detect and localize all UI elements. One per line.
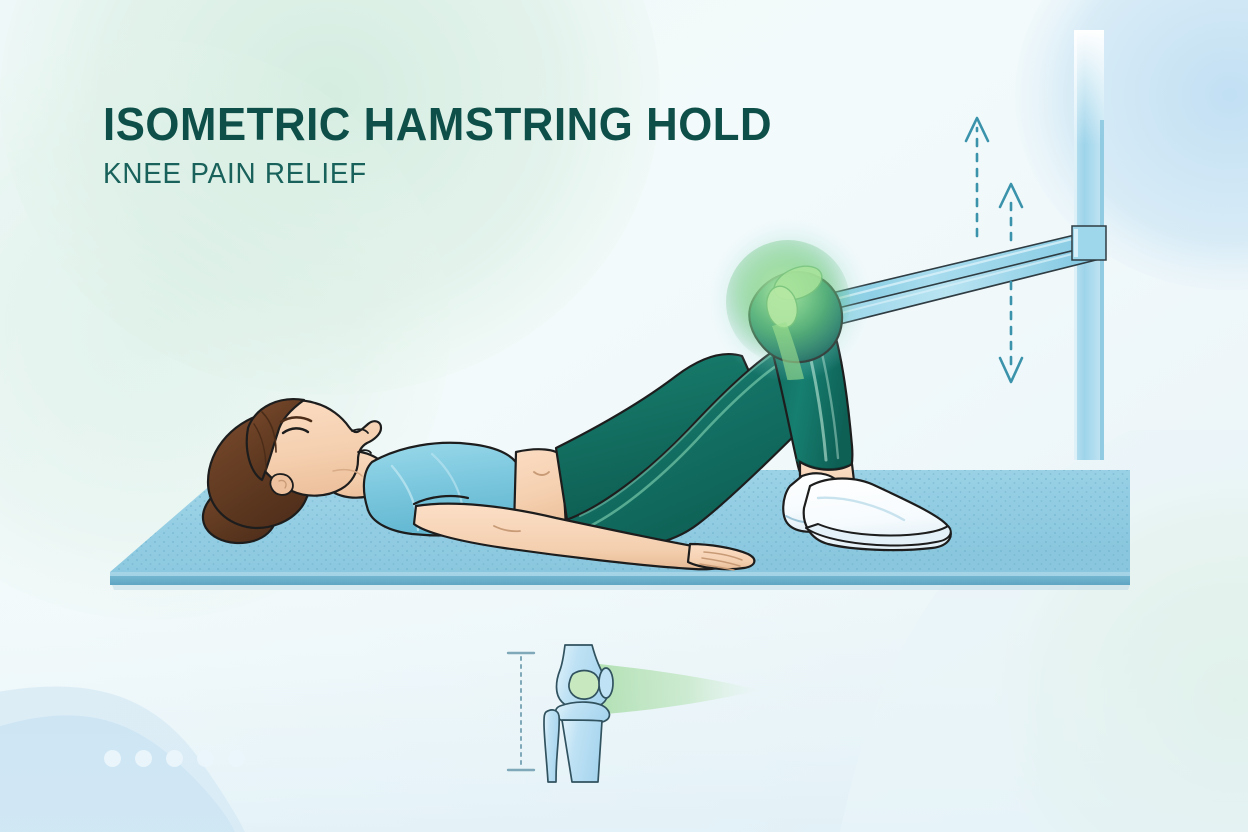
decorative-dot <box>166 750 183 767</box>
decorative-dot-row <box>104 750 245 767</box>
title-block: ISOMETRIC HAMSTRING HOLD KNEE PAIN RELIE… <box>103 101 807 189</box>
decorative-dot <box>135 750 152 767</box>
page-title: ISOMETRIC HAMSTRING HOLD <box>103 101 772 147</box>
decorative-dot <box>228 750 245 767</box>
illustration-canvas: ISOMETRIC HAMSTRING HOLD KNEE PAIN RELIE… <box>0 0 1248 832</box>
decorative-dot <box>197 750 214 767</box>
decorative-dot <box>104 750 121 767</box>
page-subtitle: KNEE PAIN RELIEF <box>103 160 779 189</box>
